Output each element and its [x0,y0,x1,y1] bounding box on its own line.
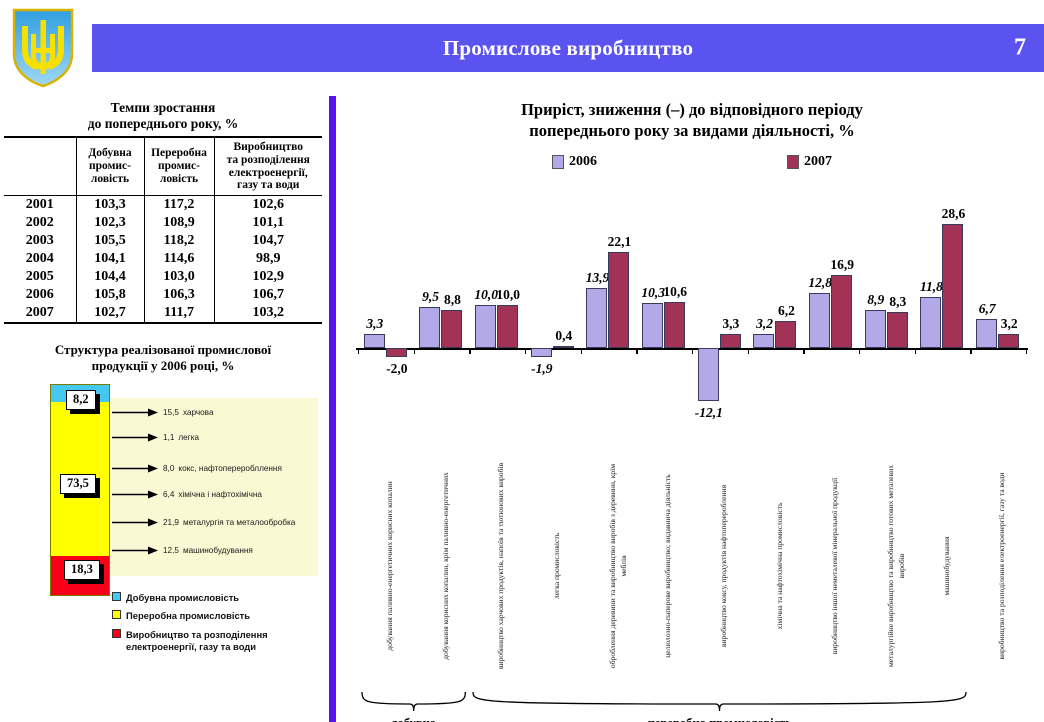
bar-2007 [608,252,629,348]
table-cell-elektro: 102,6 [214,196,322,215]
rates-table-body: 2001103,3117,2102,62002102,3108,9101,120… [4,196,322,324]
structure-legend-label: Переробна промисловість [126,610,250,622]
growth-rates-table: Добувна промис- ловість Переробна промис… [4,136,322,325]
callout-text: металургія та металообробка [183,518,295,527]
structure-legend-item: Добувна промисловість [112,592,286,604]
callout-value: 15,5 [163,408,179,417]
structure-title-line1: Структура реалізованої промислової [0,342,326,358]
bar-2007 [720,334,741,348]
x-axis-label: целюлозно-паперове виробництво; видавнич… [662,460,673,672]
slide-page: Промислове виробництво 7 Темпи зростання… [0,0,1044,722]
axis-tick [803,348,804,354]
bar-group: -12,13,3 [692,176,748,460]
bar-group: -1,90,4 [525,176,581,460]
structure-legend: Добувна промисловістьПереробна промислов… [112,592,286,660]
axis-tick [525,348,526,354]
table-cell-elektro: 104,7 [214,232,322,250]
bar-2007 [998,334,1019,348]
chart-group-braces: добувнапромисловістьпереробна промислові… [344,690,1034,722]
bar-group: 3,26,2 [748,176,804,460]
callout-text: кокс, нафтопереробллення [178,464,282,473]
structure-callout: 15,5харчова [112,408,214,417]
axis-tick [358,348,359,354]
callout-value: 6,4 [163,490,174,499]
table-cell-pererobna: 117,2 [144,196,214,215]
chart-x-axis-labels: добування паливно-енергетичних корисних … [344,460,1034,688]
x-axis-label: металургійне виробництво та виробництво … [885,460,907,672]
bar-value-label: 3,2 [986,316,1032,332]
slide-header-bar: Промислове виробництво 7 [92,24,1044,72]
table-cell-year: 2004 [4,250,76,268]
table-cell-pererobna: 118,2 [144,232,214,250]
bar-2006 [865,310,886,349]
col-header-manufacturing-l3: ловість [147,173,212,186]
table-cell-elektro: 103,2 [214,304,322,323]
col-header-manufacturing: Переробна промис- ловість [144,137,214,196]
legend-item-2007: 2007 [787,154,832,170]
legend-swatch-2007 [787,155,799,169]
col-header-manufacturing-l1: Переробна [147,147,212,160]
structure-value-mining: 8,2 [66,390,96,410]
axis-tick [970,348,971,354]
table-cell-dobuvna: 104,4 [76,268,144,286]
axis-tick [469,348,470,354]
structure-title-line2: продукції у 2006 році, % [0,358,326,374]
vertical-divider [329,96,336,722]
axis-tick [748,348,749,354]
col-header-mining-l3: ловість [79,173,142,186]
x-axis-label: оброблення деревини та виробництво вироб… [607,460,629,672]
table-cell-pererobna: 108,9 [144,214,214,232]
bar-2007 [497,305,518,349]
table-cell-year: 2001 [4,196,76,215]
rates-table-title-line2: до попереднього року, % [0,116,326,132]
structure-callout: 6,4хімічна і нафтохімічна [112,490,262,499]
table-header-row: Добувна промис- ловість Переробна промис… [4,137,322,196]
bar-group: 10,010,0 [469,176,525,460]
chart-title: Приріст, зниження (–) до відповідного пе… [340,100,1044,141]
axis-tick [692,348,693,354]
group-brace-label-line1: переробна промисловість [431,716,1008,722]
structure-title: Структура реалізованої промислової проду… [0,342,326,373]
bar-2007 [887,312,908,348]
page-number: 7 [1014,35,1026,62]
table-cell-year: 2005 [4,268,76,286]
x-axis-label: виробництво іншої неметалевої мінерально… [829,460,840,672]
bar-2007 [664,302,685,348]
table-cell-year: 2002 [4,214,76,232]
table-cell-elektro: 101,1 [214,214,322,232]
table-cell-elektro: 98,9 [214,250,322,268]
x-axis-label: виробництво та розподілення електроенерг… [996,460,1007,672]
bar-2006 [586,288,607,348]
table-cell-pererobna: 106,3 [144,286,214,304]
axis-tick [636,348,637,354]
axis-tick [581,348,582,354]
bar-2006 [753,334,774,348]
col-header-mining-l1: Добувна [79,147,142,160]
bar-value-label: 3,3 [352,316,398,332]
chart-title-line2: попереднього року за видами діяльності, … [340,121,1044,142]
legend-label-2006: 2006 [569,154,597,170]
callout-value: 1,1 [163,433,174,442]
table-cell-elektro: 106,7 [214,286,322,304]
callout-text: легка [178,433,199,442]
legend-item-2006: 2006 [552,154,597,170]
table-cell-pererobna: 103,0 [144,268,214,286]
chart-legend: 2006 2007 [340,154,1044,170]
chart-column: Приріст, зниження (–) до відповідного пе… [340,96,1044,722]
page-title: Промислове виробництво [443,36,693,61]
callout-value: 8,0 [163,464,174,473]
bar-group: 11,828,6 [915,176,971,460]
rates-table-title: Темпи зростання до попереднього року, % [0,100,326,132]
x-axis-label: добування корисних копалин, крім паливно… [440,460,451,672]
callout-value: 12,5 [163,546,179,555]
table-cell-year: 2006 [4,286,76,304]
bar-2006 [364,334,385,348]
col-header-mining-l2: промис- [79,160,142,173]
structure-callout: 12,5машинобудування [112,546,253,555]
table-row: 2002102,3108,9101,1 [4,214,322,232]
grouped-bar-plot: 3,3-2,09,58,810,010,0-1,90,413,922,110,3… [344,176,1034,460]
x-axis-label: машинобудування [941,460,952,672]
table-row: 2003105,5118,2104,7 [4,232,322,250]
structure-callout: 8,0кокс, нафтопереробллення [112,464,282,473]
legend-swatch-icon [112,592,121,601]
col-header-electricity-l4: газу та води [217,179,321,192]
bar-group: 3,3-2,0 [358,176,414,460]
bar-2006 [475,305,496,349]
bar-2006 [920,297,941,348]
bar-2007 [441,310,462,348]
axis-tick [1026,348,1027,354]
structure-value-manufacturing: 73,5 [60,474,96,494]
col-header-mining: Добувна промис- ловість [76,137,144,196]
callout-value: 21,9 [163,518,179,527]
bar-group: 6,73,2 [970,176,1026,460]
table-cell-dobuvna: 103,3 [76,196,144,215]
table-cell-dobuvna: 105,8 [76,286,144,304]
legend-swatch-icon [112,629,121,638]
table-cell-pererobna: 114,6 [144,250,214,268]
bar-group: 8,98,3 [859,176,915,460]
structure-legend-label: Виробництво та розподілення електроенерг… [126,629,286,653]
chart-title-line1: Приріст, зниження (–) до відповідного пе… [340,100,1044,121]
structure-legend-label: Добувна промисловість [126,592,239,604]
table-cell-dobuvna: 102,7 [76,304,144,323]
x-axis-label: виробництво харчових продуктів, напоїв т… [495,460,506,672]
table-cell-dobuvna: 104,1 [76,250,144,268]
axis-tick [414,348,415,354]
x-axis-label: добування паливно-енергетичних корисних … [384,460,395,672]
left-column: Темпи зростання до попереднього року, % … [0,96,326,722]
bar-2007 [775,321,796,348]
bar-2007 [831,275,852,349]
group-brace-label: переробна промисловість [431,716,1008,722]
structure-callout: 1,1легка [112,433,199,442]
table-row: 2006105,8106,3106,7 [4,286,322,304]
legend-swatch-2006 [552,155,564,169]
structure-legend-item: Виробництво та розподілення електроенерг… [112,629,286,653]
col-header-electricity-l2: та розподілення [217,154,321,167]
table-row: 2007102,7111,7103,2 [4,304,322,323]
x-axis-label: виробництво коксу, продуктів нафтопереро… [718,460,729,672]
bar-group: 12,816,9 [803,176,859,460]
col-header-electricity-l1: Виробництво [217,141,321,154]
axis-tick [915,348,916,354]
bar-2007 [553,346,574,348]
table-row: 2005104,4103,0102,9 [4,268,322,286]
callout-text: харчова [183,408,214,417]
bar-2006 [698,348,719,401]
col-header-manufacturing-l2: промис- [147,160,212,173]
axis-tick [859,348,860,354]
bar-group: 10,310,6 [636,176,692,460]
col-header-electricity-l3: електроенергії, [217,167,321,180]
bar-value-label: -12,1 [686,405,732,421]
x-axis-label: легка промисловість [551,460,562,672]
structure-value-electricity: 18,3 [64,560,100,580]
bar-value-label: 6,7 [964,301,1010,317]
structure-legend-item: Переробна промисловість [112,610,286,622]
table-cell-year: 2003 [4,232,76,250]
structure-callout: 21,9металургія та металообробка [112,518,295,527]
bar-2007 [386,348,407,357]
table-cell-dobuvna: 105,5 [76,232,144,250]
rates-table-title-line1: Темпи зростання [0,100,326,116]
col-header-year [4,137,76,196]
ukraine-trident-emblem [8,6,78,90]
table-cell-elektro: 102,9 [214,268,322,286]
bar-value-label: -1,9 [519,361,565,377]
bar-group: 9,58,8 [414,176,470,460]
callout-text: машинобудування [183,546,253,555]
legend-swatch-icon [112,610,121,619]
bar-2006 [419,307,440,348]
col-header-electricity: Виробництво та розподілення електроенерг… [214,137,322,196]
bar-2006 [642,303,663,348]
x-axis-label: хімічна та нафтохімічна промисловість [774,460,785,672]
bar-group: 13,922,1 [581,176,637,460]
callout-text: хімічна і нафтохімічна [178,490,262,499]
table-cell-dobuvna: 102,3 [76,214,144,232]
legend-label-2007: 2007 [804,154,832,170]
bar-2006 [809,293,830,349]
table-row: 2001103,3117,2102,6 [4,196,322,215]
table-row: 2004104,1114,698,9 [4,250,322,268]
table-cell-pererobna: 111,7 [144,304,214,323]
bar-2006 [531,348,552,356]
structure-chart: 8,2 73,5 18,3 15,5харчова1,1легка8,0кокс… [0,384,326,624]
table-cell-year: 2007 [4,304,76,323]
bar-2007 [942,224,963,348]
